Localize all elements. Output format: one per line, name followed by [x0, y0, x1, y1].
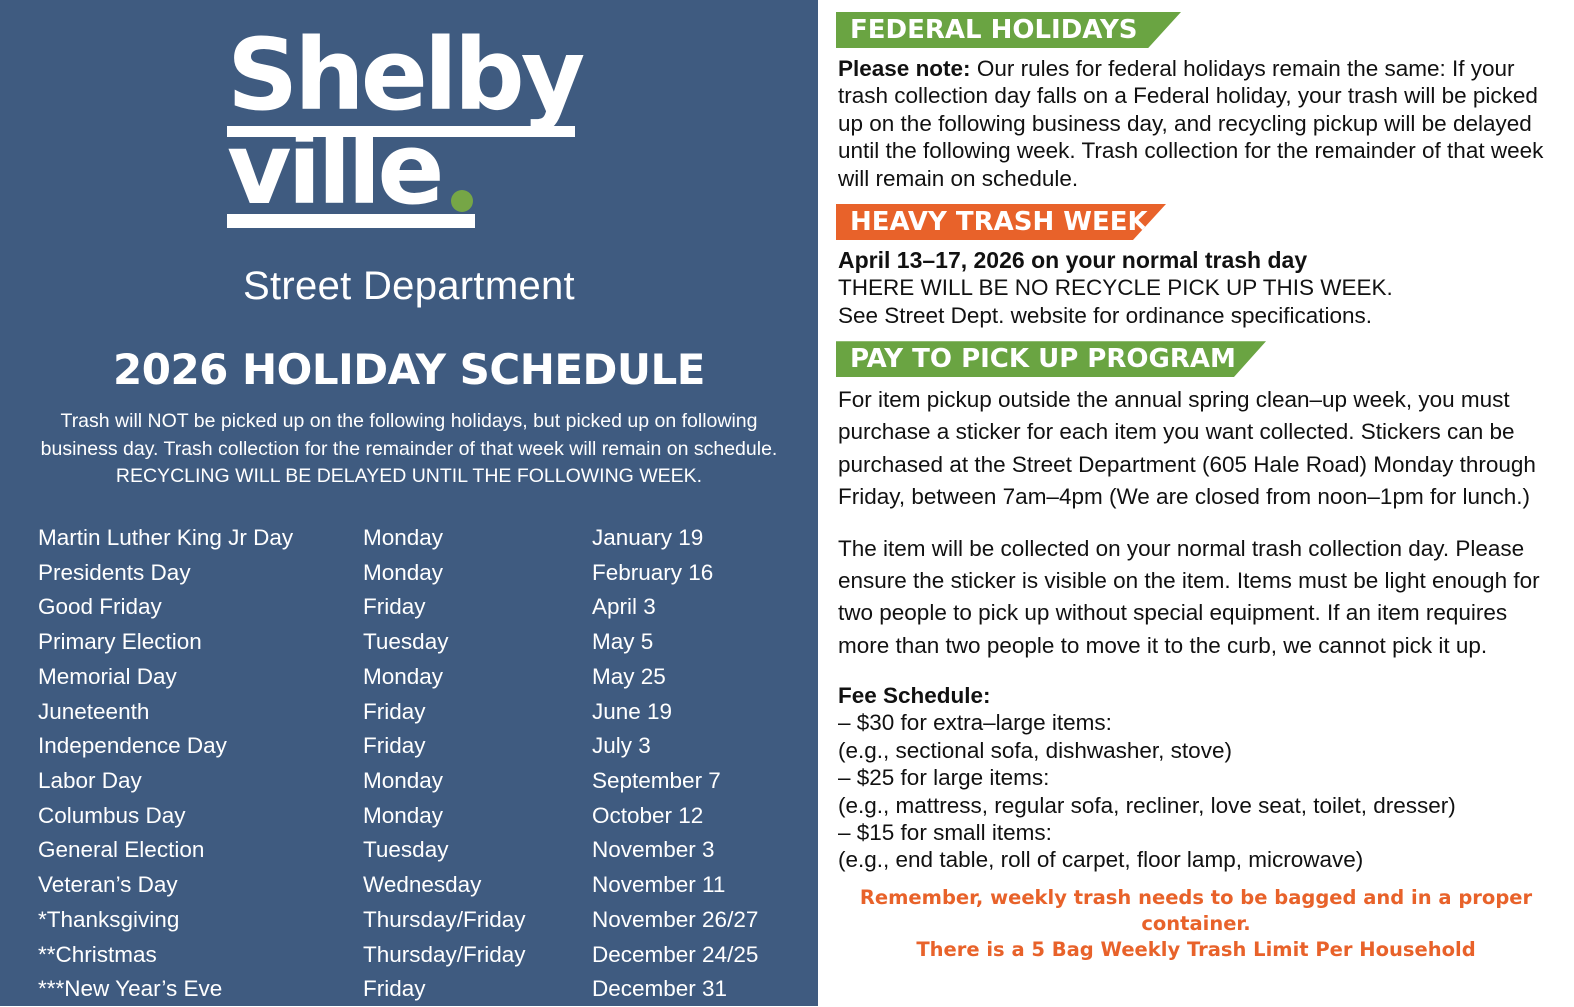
- holiday-day: Wednesday: [363, 868, 592, 903]
- subtitle-line-2: business day. Trash collection for the r…: [14, 436, 804, 464]
- holiday-date: July 3: [592, 729, 808, 764]
- holiday-name: Primary Election: [38, 625, 363, 660]
- holiday-day: Friday: [363, 729, 592, 764]
- banner-heavy-trash-week: HEAVY TRASH WEEK: [836, 204, 1166, 240]
- table-row: *Thanksgiving Thursday/Friday November 2…: [38, 903, 808, 938]
- fee-line: – $25 for large items:: [838, 764, 1556, 791]
- holiday-date: October 12: [592, 799, 808, 834]
- holiday-day: Friday: [363, 695, 592, 730]
- city-logo: Shelby ville Street Department: [219, 0, 599, 309]
- holiday-day: Monday: [363, 556, 592, 591]
- holiday-date: June 19: [592, 695, 808, 730]
- holiday-date: January 19: [592, 521, 808, 556]
- holiday-date: December 31: [592, 972, 808, 1007]
- fee-schedule-block: Fee Schedule: – $30 for extra–large item…: [836, 682, 1556, 874]
- holiday-date: November 26/27: [592, 903, 808, 938]
- footer-reminder: Remember, weekly trash needs to be bagge…: [836, 885, 1556, 963]
- holiday-day: Thursday/Friday: [363, 938, 592, 973]
- footer-reminder-line-1: Remember, weekly trash needs to be bagge…: [836, 885, 1556, 937]
- holiday-day: Tuesday: [363, 833, 592, 868]
- table-row: Primary Election Tuesday May 5: [38, 625, 808, 660]
- holiday-day: Monday: [363, 764, 592, 799]
- table-row: **Christmas Thursday/Friday December 24/…: [38, 938, 808, 973]
- right-info-panel: FEDERAL HOLIDAYS Please note: Our rules …: [818, 0, 1574, 1006]
- holiday-date: December 24/25: [592, 938, 808, 973]
- table-row: Veteran’s Day Wednesday November 11: [38, 868, 808, 903]
- pay-to-pickup-paragraph-1: For item pickup outside the annual sprin…: [836, 384, 1556, 513]
- table-row: Presidents Day Monday February 16: [38, 556, 808, 591]
- table-row: Independence Day Friday July 3: [38, 729, 808, 764]
- table-row: Memorial Day Monday May 25: [38, 660, 808, 695]
- logo-wordmark: Shelby ville: [219, 22, 599, 222]
- logo-text-shelby: Shelby: [227, 26, 581, 125]
- holiday-day: Monday: [363, 660, 592, 695]
- footer-reminder-line-2: There is a 5 Bag Weekly Trash Limit Per …: [836, 937, 1556, 963]
- table-row: Juneteenth Friday June 19: [38, 695, 808, 730]
- heavy-trash-line-2: THERE WILL BE NO RECYCLE PICK UP THIS WE…: [838, 274, 1556, 301]
- schedule-subtitle: Trash will NOT be picked up on the follo…: [14, 408, 804, 491]
- holiday-name: Memorial Day: [38, 660, 363, 695]
- banner-pay-to-pick-up: PAY TO PICK UP PROGRAM: [836, 341, 1266, 377]
- holiday-name: **Christmas: [38, 938, 363, 973]
- holiday-name: Juneteenth: [38, 695, 363, 730]
- holiday-day: Tuesday: [363, 625, 592, 660]
- holiday-date: May 5: [592, 625, 808, 660]
- holiday-day: Thursday/Friday: [363, 903, 592, 938]
- pay-to-pickup-paragraph-2: The item will be collected on your norma…: [836, 533, 1556, 662]
- holiday-day: Monday: [363, 521, 592, 556]
- holiday-day: Friday: [363, 590, 592, 625]
- holiday-name: Martin Luther King Jr Day: [38, 521, 363, 556]
- page-title: 2026 HOLIDAY SCHEDULE: [0, 345, 818, 394]
- table-row: General Election Tuesday November 3: [38, 833, 808, 868]
- logo-text-ville: ville: [227, 120, 440, 219]
- subtitle-line-3: RECYCLING WILL BE DELAYED UNTIL THE FOLL…: [14, 463, 804, 491]
- banner-pay-to-pick-up-label: PAY TO PICK UP PROGRAM: [850, 344, 1236, 374]
- heavy-trash-dates: April 13–17, 2026 on your normal trash d…: [838, 247, 1556, 274]
- department-name: Street Department: [219, 264, 599, 309]
- banner-federal-holidays: FEDERAL HOLIDAYS: [836, 12, 1181, 48]
- holiday-name: Veteran’s Day: [38, 868, 363, 903]
- holiday-name: Columbus Day: [38, 799, 363, 834]
- holiday-day: Friday: [363, 972, 592, 1007]
- holiday-date: April 3: [592, 590, 808, 625]
- table-row: ***New Year’s Eve Friday December 31: [38, 972, 808, 1007]
- fee-line: (e.g., sectional sofa, dishwasher, stove…: [838, 737, 1556, 764]
- subtitle-line-1: Trash will NOT be picked up on the follo…: [14, 408, 804, 436]
- green-dot-icon: [451, 190, 473, 212]
- heavy-trash-line-3: See Street Dept. website for ordinance s…: [838, 302, 1556, 329]
- holiday-day: Monday: [363, 799, 592, 834]
- holiday-schedule-table: Martin Luther King Jr Day Monday January…: [0, 521, 818, 1007]
- holiday-date: September 7: [592, 764, 808, 799]
- holiday-name: Good Friday: [38, 590, 363, 625]
- holiday-name: General Election: [38, 833, 363, 868]
- holiday-name: *Thanksgiving: [38, 903, 363, 938]
- fee-line: (e.g., mattress, regular sofa, recliner,…: [838, 792, 1556, 819]
- holiday-date: November 3: [592, 833, 808, 868]
- holiday-name: Labor Day: [38, 764, 363, 799]
- holiday-date: February 16: [592, 556, 808, 591]
- please-note-label: Please note:: [838, 56, 971, 81]
- table-row: Labor Day Monday September 7: [38, 764, 808, 799]
- fee-line: – $15 for small items:: [838, 819, 1556, 846]
- table-row: Columbus Day Monday October 12: [38, 799, 808, 834]
- left-blue-panel: Shelby ville Street Department 2026 HOLI…: [0, 0, 818, 1006]
- holiday-name: Presidents Day: [38, 556, 363, 591]
- banner-heavy-trash-week-label: HEAVY TRASH WEEK: [850, 207, 1148, 237]
- banner-federal-holidays-label: FEDERAL HOLIDAYS: [850, 15, 1138, 45]
- holiday-date: November 11: [592, 868, 808, 903]
- holiday-name: Independence Day: [38, 729, 363, 764]
- table-row: Good Friday Friday April 3: [38, 590, 808, 625]
- table-row: Martin Luther King Jr Day Monday January…: [38, 521, 808, 556]
- federal-holidays-note: Please note: Our rules for federal holid…: [836, 55, 1556, 192]
- holiday-name: ***New Year’s Eve: [38, 972, 363, 1007]
- fee-line: – $30 for extra–large items:: [838, 709, 1556, 736]
- fee-line: (e.g., end table, roll of carpet, floor …: [838, 846, 1556, 873]
- fee-schedule-heading: Fee Schedule:: [838, 682, 1556, 709]
- flyer-page: Shelby ville Street Department 2026 HOLI…: [0, 0, 1574, 1006]
- holiday-date: May 25: [592, 660, 808, 695]
- heavy-trash-details: April 13–17, 2026 on your normal trash d…: [836, 247, 1556, 329]
